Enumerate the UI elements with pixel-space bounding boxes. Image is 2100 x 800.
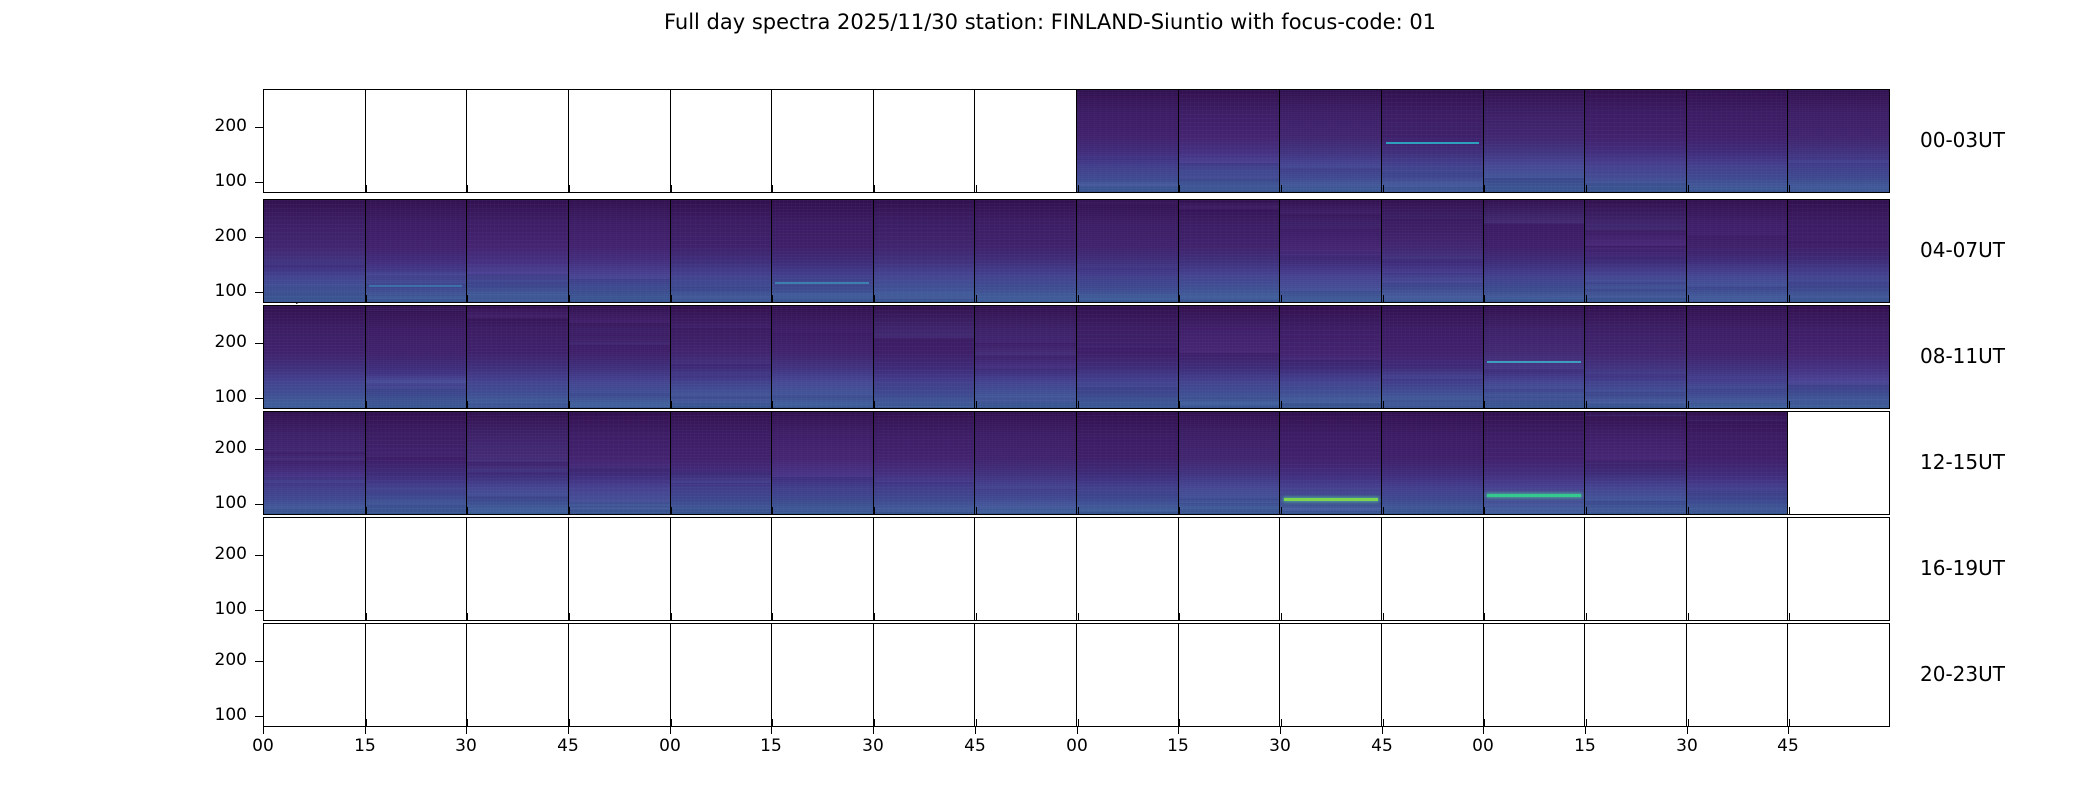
- empty-subpanel: [975, 518, 1077, 620]
- subpanel-tick: [1586, 401, 1587, 408]
- spectrogram-subpanel: [1382, 306, 1484, 408]
- spectrogram-subpanel: [874, 306, 976, 408]
- x-axis: 00153045001530450015304500153045: [263, 727, 1890, 761]
- subpanel-tick: [1789, 719, 1790, 726]
- empty-subpanel: [1382, 518, 1484, 620]
- subpanel-tick: [1484, 719, 1485, 726]
- spectrogram-row-12-15ut: [263, 411, 1890, 515]
- spec-lowband-layer: [772, 306, 874, 408]
- subpanel-tick: [1383, 185, 1384, 192]
- spectrogram-subpanel: [1179, 412, 1281, 514]
- y-axis-tick: [255, 504, 263, 505]
- empty-subpanel: [671, 624, 773, 726]
- subpanel-tick: [671, 613, 672, 620]
- spectrogram-subpanel: [1382, 412, 1484, 514]
- x-axis-tick: [1382, 727, 1383, 734]
- subpanel-tick: [1586, 185, 1587, 192]
- spectrogram-subpanel: [1687, 306, 1789, 408]
- emission-line: [1284, 498, 1378, 501]
- x-axis-tick-label: 30: [1676, 736, 1698, 756]
- subpanel-tick: [1383, 613, 1384, 620]
- spectrogram-row-16-19ut: [263, 517, 1890, 621]
- subpanel-tick: [671, 507, 672, 514]
- empty-subpanel: [467, 624, 569, 726]
- spectrogram-subpanel: [1585, 200, 1687, 302]
- empty-subpanel: [1687, 624, 1789, 726]
- x-axis-tick-label: 00: [1066, 736, 1088, 756]
- spectrogram-subpanel: [975, 306, 1077, 408]
- y-axis-tick: [255, 449, 263, 450]
- empty-subpanel: [772, 90, 874, 192]
- spectrogram-subpanel: [366, 306, 468, 408]
- y-axis-tick-label: 200: [185, 226, 247, 246]
- empty-subpanel: [1687, 518, 1789, 620]
- subpanel-tick: [1281, 613, 1282, 620]
- y-axis-tick: [255, 292, 263, 293]
- subpanel-tick: [569, 295, 570, 302]
- y-axis-tick-label: 200: [185, 332, 247, 352]
- row-label-04-07ut: 04-07UT: [1920, 238, 2005, 262]
- subpanel-tick: [772, 719, 773, 726]
- spec-lowband-layer: [1077, 306, 1179, 408]
- spec-lowband-layer: [264, 200, 366, 302]
- spec-lowband-layer: [569, 412, 671, 514]
- y-axis-tick: [255, 343, 263, 344]
- spectrogram-subpanel: [1382, 200, 1484, 302]
- spectrogram-subpanel: [1585, 306, 1687, 408]
- subpanel-tick: [1484, 401, 1485, 408]
- y-axis-tick: [255, 127, 263, 128]
- row-label-12-15ut: 12-15UT: [1920, 450, 2005, 474]
- subpanel-tick: [1789, 507, 1790, 514]
- subpanel-tick: [1383, 295, 1384, 302]
- subpanel-tick: [1078, 613, 1079, 620]
- spectrogram-subpanel: [1788, 90, 1889, 192]
- spectrogram-subpanel: [264, 306, 366, 408]
- spec-lowband-layer: [1280, 200, 1382, 302]
- x-axis-tick: [1788, 727, 1789, 734]
- empty-subpanel: [1788, 624, 1889, 726]
- row-label-00-03ut: 00-03UT: [1920, 128, 2005, 152]
- spectrogram-subpanel: [975, 412, 1077, 514]
- x-axis-tick: [1585, 727, 1586, 734]
- y-axis-tick-label: 100: [185, 705, 247, 725]
- x-axis-tick-label: 15: [1167, 736, 1189, 756]
- subpanel-tick: [569, 401, 570, 408]
- spectrogram-subpanel: [1280, 200, 1382, 302]
- row-subpanels: [264, 412, 1889, 514]
- x-axis-tick-label: 15: [354, 736, 376, 756]
- spectrogram-subpanel: [772, 412, 874, 514]
- emission-line: [1487, 494, 1581, 497]
- spec-lowband-layer: [264, 306, 366, 408]
- spectrogram-figure: Full day spectra 2025/11/30 station: FIN…: [0, 0, 2100, 800]
- spec-lowband-layer: [264, 412, 366, 514]
- spectrogram-subpanel: [569, 200, 671, 302]
- spec-lowband-layer: [1687, 412, 1789, 514]
- spec-lowband-layer: [1585, 412, 1687, 514]
- subpanel-tick: [874, 507, 875, 514]
- subpanel-tick: [772, 507, 773, 514]
- spec-lowband-layer: [1788, 200, 1889, 302]
- y-axis-tick: [255, 610, 263, 611]
- spec-lowband-layer: [1382, 200, 1484, 302]
- y-axis-tick: [255, 237, 263, 238]
- spectrogram-subpanel: [569, 306, 671, 408]
- y-axis-tick: [255, 555, 263, 556]
- spec-lowband-layer: [569, 200, 671, 302]
- spec-lowband-layer: [671, 200, 773, 302]
- spectrogram-subpanel: [1484, 90, 1586, 192]
- x-axis-tick: [568, 727, 569, 734]
- spectrogram-subpanel: [1179, 200, 1281, 302]
- x-axis-tick: [670, 727, 671, 734]
- subpanel-tick: [569, 507, 570, 514]
- spectrogram-subpanel: [467, 412, 569, 514]
- x-axis-tick-label: 15: [1574, 736, 1596, 756]
- emission-line: [369, 285, 463, 287]
- emission-line: [1386, 142, 1480, 144]
- subpanel-tick: [1383, 507, 1384, 514]
- empty-subpanel: [569, 90, 671, 192]
- y-axis-tick: [255, 661, 263, 662]
- x-axis-tick-label: 15: [760, 736, 782, 756]
- x-axis-tick-label: 00: [1472, 736, 1494, 756]
- subpanel-tick: [467, 719, 468, 726]
- empty-subpanel: [1077, 624, 1179, 726]
- empty-subpanel: [772, 518, 874, 620]
- subpanel-tick: [1484, 295, 1485, 302]
- subpanel-tick: [569, 719, 570, 726]
- spectrogram-subpanel: [467, 306, 569, 408]
- spec-lowband-layer: [1179, 412, 1281, 514]
- subpanel-tick: [1281, 185, 1282, 192]
- spec-lowband-layer: [671, 412, 773, 514]
- empty-subpanel: [1382, 624, 1484, 726]
- y-axis-tick-label: 100: [185, 281, 247, 301]
- empty-subpanel: [366, 518, 468, 620]
- subpanel-tick: [1281, 507, 1282, 514]
- spectrogram-subpanel: [1484, 200, 1586, 302]
- spectrogram-subpanel: [772, 200, 874, 302]
- spec-lowband-layer: [1484, 200, 1586, 302]
- spec-lowband-layer: [1687, 306, 1789, 408]
- spec-lowband-layer: [1484, 306, 1586, 408]
- spec-lowband-layer: [1585, 200, 1687, 302]
- subpanel-tick: [976, 295, 977, 302]
- subpanel-tick: [976, 185, 977, 192]
- x-axis-tick: [873, 727, 874, 734]
- subpanel-tick: [467, 401, 468, 408]
- subpanel-tick: [1179, 507, 1180, 514]
- row-label-08-11ut: 08-11UT: [1920, 344, 2005, 368]
- subpanel-tick: [1688, 719, 1689, 726]
- subpanel-tick: [1179, 401, 1180, 408]
- emission-line: [1487, 361, 1581, 363]
- empty-subpanel: [1788, 412, 1889, 514]
- spectrogram-row-00-03ut: [263, 89, 1890, 193]
- spectrogram-subpanel: [1687, 200, 1789, 302]
- spec-lowband-layer: [366, 412, 468, 514]
- spectrogram-subpanel: [1280, 90, 1382, 192]
- subpanel-tick: [671, 401, 672, 408]
- x-axis-tick-label: 30: [1269, 736, 1291, 756]
- spec-lowband-layer: [1077, 200, 1179, 302]
- empty-subpanel: [1484, 624, 1586, 726]
- subpanel-tick: [1281, 401, 1282, 408]
- spec-lowband-layer: [1687, 90, 1789, 192]
- x-axis-tick: [771, 727, 772, 734]
- subpanel-tick: [772, 295, 773, 302]
- y-axis-tick: [255, 398, 263, 399]
- spectrogram-subpanel: [1484, 412, 1586, 514]
- subpanel-tick: [1586, 719, 1587, 726]
- spec-lowband-layer: [467, 412, 569, 514]
- figure-title: Full day spectra 2025/11/30 station: FIN…: [0, 10, 2100, 34]
- subpanel-tick: [874, 185, 875, 192]
- spectrogram-subpanel: [264, 412, 366, 514]
- spectrogram-subpanel: [1179, 90, 1281, 192]
- spectrogram-subpanel: [1788, 200, 1889, 302]
- subpanel-tick: [874, 613, 875, 620]
- spectrogram-subpanel: [671, 306, 773, 408]
- empty-subpanel: [264, 624, 366, 726]
- subpanel-tick: [1179, 295, 1180, 302]
- subpanel-tick: [1586, 507, 1587, 514]
- x-axis-tick-label: 30: [455, 736, 477, 756]
- spectrogram-subpanel: [366, 412, 468, 514]
- x-axis-tick: [1178, 727, 1179, 734]
- x-axis-tick: [1077, 727, 1078, 734]
- empty-subpanel: [1280, 624, 1382, 726]
- x-axis-tick: [975, 727, 976, 734]
- empty-subpanel: [1179, 624, 1281, 726]
- y-axis-tick-label: 100: [185, 599, 247, 619]
- spec-lowband-layer: [1382, 306, 1484, 408]
- spectrogram-row-20-23ut: [263, 623, 1890, 727]
- y-axis-tick-label: 200: [185, 544, 247, 564]
- empty-subpanel: [366, 90, 468, 192]
- empty-subpanel: [1280, 518, 1382, 620]
- spec-lowband-layer: [1585, 306, 1687, 408]
- spec-lowband-layer: [1077, 412, 1179, 514]
- subpanel-tick: [874, 295, 875, 302]
- subpanel-tick: [1078, 507, 1079, 514]
- subpanel-tick: [874, 401, 875, 408]
- subpanel-tick: [366, 185, 367, 192]
- spec-lowband-layer: [467, 200, 569, 302]
- subpanel-tick: [1078, 185, 1079, 192]
- spectrogram-subpanel: [1280, 306, 1382, 408]
- row-subpanels: [264, 624, 1889, 726]
- subpanel-tick: [1789, 613, 1790, 620]
- subpanel-tick: [1383, 401, 1384, 408]
- x-axis-tick-label: 00: [659, 736, 681, 756]
- subpanel-tick: [1688, 401, 1689, 408]
- spec-lowband-layer: [772, 200, 874, 302]
- y-axis-tick-label: 200: [185, 116, 247, 136]
- subpanel-tick: [1281, 295, 1282, 302]
- empty-subpanel: [1788, 518, 1889, 620]
- subpanel-tick: [1383, 719, 1384, 726]
- subpanel-tick: [1789, 401, 1790, 408]
- subpanel-tick: [366, 401, 367, 408]
- spectrogram-subpanel: [874, 200, 976, 302]
- x-axis-tick: [1280, 727, 1281, 734]
- subpanel-tick: [467, 507, 468, 514]
- x-axis-tick-label: 45: [557, 736, 579, 756]
- x-axis-tick: [466, 727, 467, 734]
- spec-lowband-layer: [1382, 90, 1484, 192]
- subpanel-tick: [1078, 719, 1079, 726]
- empty-subpanel: [264, 90, 366, 192]
- subpanel-tick: [874, 719, 875, 726]
- spectrogram-subpanel: [467, 200, 569, 302]
- y-axis-tick: [255, 716, 263, 717]
- subpanel-tick: [1179, 719, 1180, 726]
- subpanel-tick: [1281, 719, 1282, 726]
- spec-lowband-layer: [975, 306, 1077, 408]
- empty-subpanel: [467, 518, 569, 620]
- subpanel-tick: [366, 613, 367, 620]
- subpanel-tick: [1586, 295, 1587, 302]
- empty-subpanel: [1585, 624, 1687, 726]
- subpanel-tick: [1688, 185, 1689, 192]
- spectrogram-subpanel: [1077, 412, 1179, 514]
- subpanel-tick: [366, 295, 367, 302]
- subpanel-tick: [1179, 613, 1180, 620]
- spec-lowband-layer: [569, 306, 671, 408]
- spectrogram-subpanel: [1077, 200, 1179, 302]
- row-subpanels: [264, 306, 1889, 408]
- y-axis-tick-label: 100: [185, 387, 247, 407]
- spectrogram-subpanel: [1179, 306, 1281, 408]
- spec-lowband-layer: [1585, 90, 1687, 192]
- spec-lowband-layer: [975, 200, 1077, 302]
- subpanel-tick: [467, 613, 468, 620]
- subpanel-tick: [976, 401, 977, 408]
- subpanel-tick: [1789, 295, 1790, 302]
- spec-lowband-layer: [772, 412, 874, 514]
- empty-subpanel: [1484, 518, 1586, 620]
- subpanel-tick: [671, 295, 672, 302]
- subpanel-tick: [1078, 401, 1079, 408]
- empty-subpanel: [1077, 518, 1179, 620]
- subpanel-tick: [772, 401, 773, 408]
- spec-lowband-layer: [1788, 90, 1889, 192]
- x-axis-tick-label: 00: [252, 736, 274, 756]
- x-axis-tick-label: 45: [1777, 736, 1799, 756]
- row-label-16-19ut: 16-19UT: [1920, 556, 2005, 580]
- spec-lowband-layer: [1077, 90, 1179, 192]
- spec-lowband-layer: [874, 306, 976, 408]
- subpanel-tick: [671, 185, 672, 192]
- row-subpanels: [264, 518, 1889, 620]
- empty-subpanel: [264, 518, 366, 620]
- spectrogram-subpanel: [1687, 90, 1789, 192]
- spectrogram-subpanel: [671, 412, 773, 514]
- spectrogram-subpanel: [975, 200, 1077, 302]
- spectrogram-subpanel: [1077, 90, 1179, 192]
- empty-subpanel: [874, 624, 976, 726]
- spectrogram-subpanel: [264, 200, 366, 302]
- empty-subpanel: [1585, 518, 1687, 620]
- spec-lowband-layer: [1179, 306, 1281, 408]
- spectrogram-row-04-07ut: [263, 199, 1890, 303]
- x-axis-tick: [365, 727, 366, 734]
- subpanel-tick: [1484, 613, 1485, 620]
- x-axis-tick-label: 45: [1371, 736, 1393, 756]
- subpanel-tick: [1688, 295, 1689, 302]
- spec-lowband-layer: [1280, 306, 1382, 408]
- spectrogram-subpanel: [569, 412, 671, 514]
- subpanel-tick: [772, 185, 773, 192]
- spec-lowband-layer: [1179, 90, 1281, 192]
- y-axis-tick-label: 100: [185, 171, 247, 191]
- subpanel-tick: [366, 719, 367, 726]
- empty-subpanel: [772, 624, 874, 726]
- y-axis-tick-label: 200: [185, 650, 247, 670]
- spectrogram-row-08-11ut: [263, 305, 1890, 409]
- spectrogram-subpanel: [671, 200, 773, 302]
- subpanel-tick: [1484, 185, 1485, 192]
- spec-lowband-layer: [1788, 306, 1889, 408]
- subpanel-tick: [1586, 613, 1587, 620]
- spectrogram-subpanel: [1788, 306, 1889, 408]
- subpanel-tick: [467, 185, 468, 192]
- spec-lowband-layer: [1484, 90, 1586, 192]
- x-axis-tick: [1687, 727, 1688, 734]
- spectrogram-subpanel: [1382, 90, 1484, 192]
- empty-subpanel: [671, 518, 773, 620]
- spectrogram-subpanel: [1687, 412, 1789, 514]
- empty-subpanel: [569, 518, 671, 620]
- subpanel-tick: [1789, 185, 1790, 192]
- spectrogram-subpanel: [1585, 412, 1687, 514]
- spectrogram-subpanel: [772, 306, 874, 408]
- row-subpanels: [264, 90, 1889, 192]
- subpanel-tick: [569, 185, 570, 192]
- subpanel-tick: [976, 507, 977, 514]
- spec-lowband-layer: [1382, 412, 1484, 514]
- spectrogram-subpanel: [1585, 90, 1687, 192]
- spec-lowband-layer: [1687, 200, 1789, 302]
- spec-lowband-layer: [975, 412, 1077, 514]
- subpanel-tick: [976, 613, 977, 620]
- spec-lowband-layer: [874, 200, 976, 302]
- empty-subpanel: [366, 624, 468, 726]
- subpanel-tick: [976, 719, 977, 726]
- empty-subpanel: [874, 518, 976, 620]
- spectrogram-subpanel: [874, 412, 976, 514]
- y-axis-tick-label: 200: [185, 438, 247, 458]
- spec-lowband-layer: [671, 306, 773, 408]
- x-axis-tick-label: 30: [862, 736, 884, 756]
- x-axis-tick-label: 45: [964, 736, 986, 756]
- spec-lowband-layer: [1179, 200, 1281, 302]
- empty-subpanel: [1179, 518, 1281, 620]
- empty-subpanel: [671, 90, 773, 192]
- subpanel-tick: [671, 719, 672, 726]
- spectrogram-subpanel: [1484, 306, 1586, 408]
- y-axis-tick-label: 100: [185, 493, 247, 513]
- spec-lowband-layer: [874, 412, 976, 514]
- spec-lowband-layer: [366, 306, 468, 408]
- spec-lowband-layer: [1484, 412, 1586, 514]
- emission-line: [775, 282, 869, 284]
- subpanel-tick: [569, 613, 570, 620]
- subpanel-tick: [366, 507, 367, 514]
